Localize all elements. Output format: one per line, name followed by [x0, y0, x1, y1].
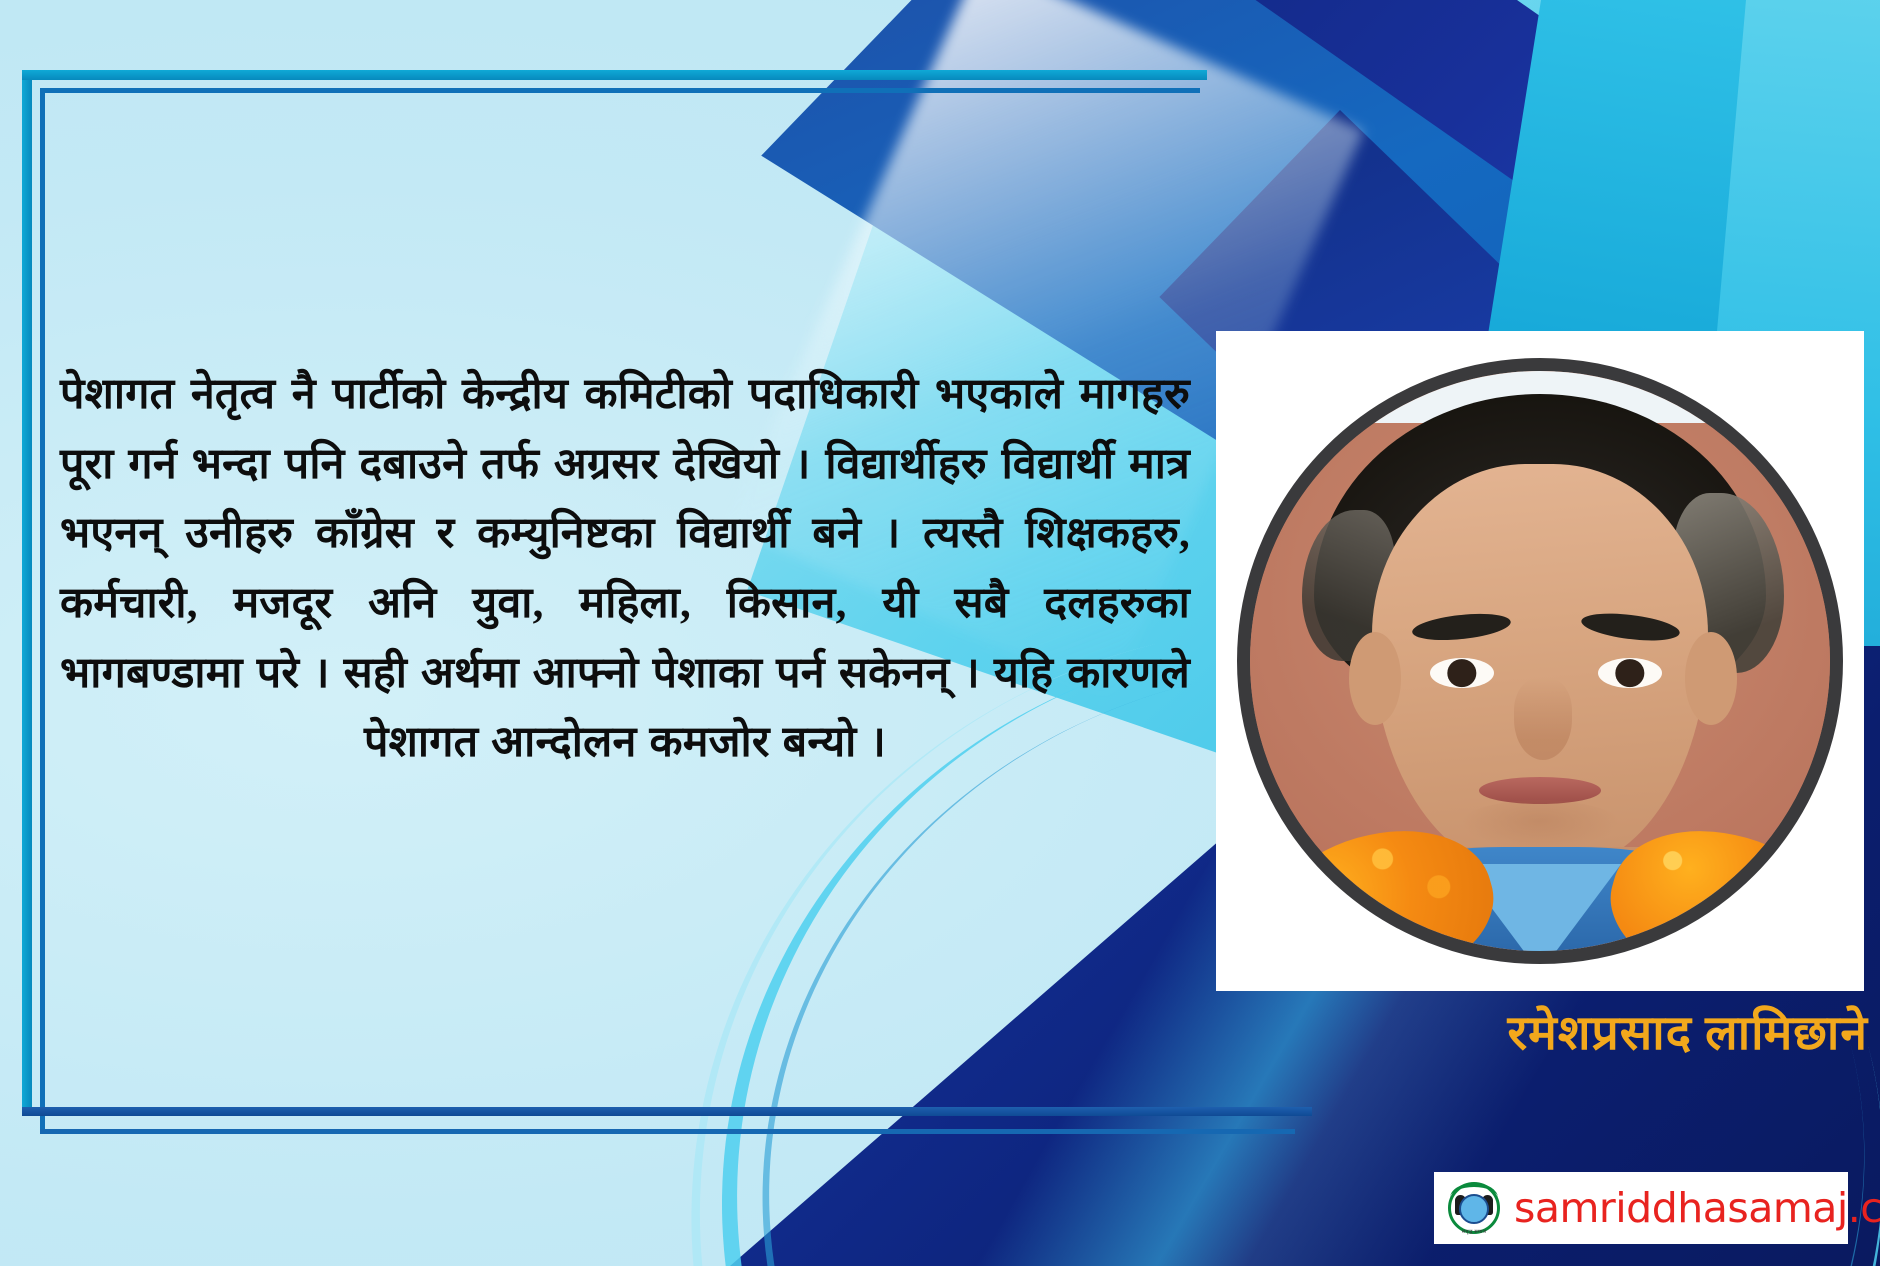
frame-rail-top — [22, 70, 1207, 80]
portrait-pupil-right — [1615, 659, 1644, 687]
portrait-pupil-left — [1447, 659, 1476, 687]
quote-text: पेशागत नेतृत्व नै पार्टीको केन्द्रीय कमि… — [60, 360, 1190, 778]
site-logo-chip[interactable]: समृद्ध समाज samriddhasamaj.com — [1434, 1172, 1848, 1244]
logo-caption: समृद्ध समाज — [1446, 1229, 1502, 1235]
frame-rail-bottom — [22, 1107, 1312, 1116]
frame-rail-left — [22, 70, 32, 1116]
frame-rail-left-inner — [40, 88, 45, 1134]
portrait-eye-right — [1598, 658, 1662, 688]
frame-rail-top-inner — [40, 88, 1200, 93]
site-url-text: samriddhasamaj.com — [1514, 1184, 1880, 1232]
portrait-nose — [1514, 678, 1572, 759]
portrait-ear-right — [1685, 632, 1737, 725]
portrait-avatar — [1237, 358, 1843, 964]
attribution-name: रमेशप्रसाद लामिछाने — [1508, 1010, 1869, 1058]
portrait-ear-left — [1349, 632, 1401, 725]
quote-card: पेशागत नेतृत्व नै पार्टीको केन्द्रीय कमि… — [0, 0, 1880, 1266]
portrait-eye-left — [1430, 658, 1494, 688]
logo-globe-icon — [1459, 1194, 1489, 1224]
samriddhasamaj-logo-icon: समृद्ध समाज — [1446, 1180, 1502, 1236]
frame-rail-bottom-inner — [40, 1129, 1295, 1134]
portrait-card — [1216, 331, 1864, 991]
